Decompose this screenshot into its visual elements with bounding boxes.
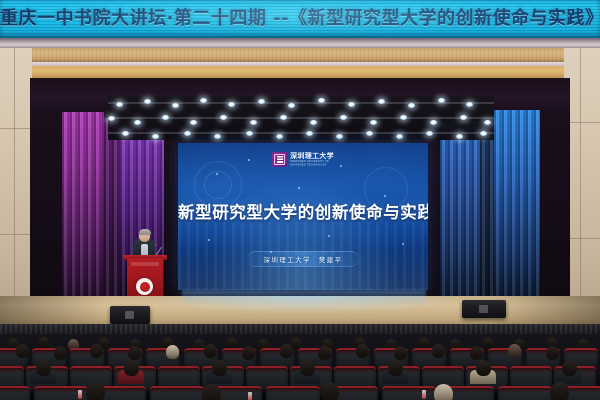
university-logo: 深圳理工大学 SHENZHEN UNIVERSITY OF ADVANCED T… — [272, 152, 334, 167]
stage-light-icon — [162, 115, 169, 120]
curtain-purple-left-mid — [104, 118, 120, 310]
university-crest-icon — [272, 152, 287, 167]
audience-head — [550, 382, 569, 400]
audience-head — [54, 346, 67, 360]
stage-light-icon — [466, 102, 473, 107]
university-name-en-line2: ADVANCED TECHNOLOGY — [290, 164, 334, 167]
audience-head — [470, 346, 483, 360]
slide-dot — [216, 173, 218, 175]
slide-dot — [248, 159, 250, 161]
stage-light-icon — [430, 120, 437, 125]
audience-head — [320, 382, 339, 400]
stage-light-icon — [108, 116, 115, 121]
audience-head — [124, 360, 139, 376]
audience-head — [432, 344, 445, 358]
university-name-en: SHENZHEN UNIVERSITY OF ADVANCED TECHNOLO… — [290, 161, 334, 167]
stage-light-icon — [438, 98, 445, 103]
slide-dot — [340, 165, 342, 167]
stage-light-icon — [200, 98, 207, 103]
stage-light-icon — [288, 103, 295, 108]
audience-seat — [498, 386, 552, 400]
university-logo-text: 深圳理工大学 SHENZHEN UNIVERSITY OF ADVANCED T… — [290, 153, 334, 167]
audience-head — [394, 346, 407, 360]
stage-light-icon — [122, 131, 129, 136]
stage-light-icon — [228, 102, 235, 107]
audience-head — [356, 344, 369, 358]
stage-light-icon — [484, 120, 491, 125]
stage-monitor-speaker-left — [110, 306, 150, 324]
stage-light-icon — [396, 134, 403, 139]
stage-light-icon — [152, 134, 159, 139]
lighting-truss — [108, 96, 494, 140]
audience-head — [128, 346, 141, 360]
led-banner: 重庆一中书院大讲坛·第二十四期 --《新型研究型大学的创新使命与实践》 — [0, 0, 600, 38]
stage-light-icon — [116, 102, 123, 107]
ceiling-band — [0, 38, 600, 48]
stage-light-icon — [172, 103, 179, 108]
podium-emblem-icon — [136, 278, 153, 295]
slide-dot — [384, 195, 386, 197]
audience-head — [508, 344, 521, 358]
stage-floor-glow — [150, 296, 460, 314]
stage-light-icon — [340, 115, 347, 120]
wall-seam — [0, 128, 32, 129]
decorative-circle-icon — [204, 171, 232, 199]
presenter-hair — [139, 229, 151, 235]
stage-light-icon — [400, 115, 407, 120]
stage-light-icon — [214, 134, 221, 139]
audience-seat — [0, 386, 30, 400]
stage-light-icon — [426, 131, 433, 136]
proscenium-upper-trim — [0, 48, 600, 62]
wall-seam — [580, 48, 581, 323]
curtain-purple-left-outer — [62, 112, 104, 310]
curtain-blue-right-mid — [480, 116, 494, 310]
stage-light-icon — [310, 120, 317, 125]
slide-dot — [298, 187, 300, 189]
lecture-hall-photo: 重庆一中书院大讲坛·第二十四期 --《新型研究型大学的创新使命与实践》 — [0, 0, 600, 400]
stage-light-icon — [184, 131, 191, 136]
audience-head — [202, 384, 221, 400]
audience-head — [318, 346, 331, 360]
audience-head — [90, 344, 103, 358]
audience-head — [434, 384, 453, 400]
audience-seat — [150, 386, 204, 400]
podium-nameplate — [131, 262, 159, 266]
stage-light-icon — [408, 103, 415, 108]
stage-light-icon — [370, 120, 377, 125]
audience-head — [16, 344, 29, 358]
led-banner-text: 重庆一中书院大讲坛·第二十四期 --《新型研究型大学的创新使命与实践》 — [0, 6, 600, 32]
stage-light-icon — [280, 115, 287, 120]
curtain-blue-right-outer — [494, 110, 540, 310]
proscenium-lower-trim — [0, 66, 600, 78]
audience-head — [242, 346, 255, 360]
audience-head — [476, 360, 491, 376]
audience-head — [300, 360, 315, 376]
stage-light-icon — [456, 134, 463, 139]
wall-seam — [0, 234, 32, 235]
audience-head — [86, 382, 105, 400]
slide-title: 新型研究型大学的创新使命与实践 — [178, 199, 428, 223]
projection-screen: 深圳理工大学 SHENZHEN UNIVERSITY OF ADVANCED T… — [178, 143, 428, 290]
stage-light-icon — [348, 102, 355, 107]
audience-seat — [266, 386, 320, 400]
stage-light-icon — [250, 120, 257, 125]
hall-wall-left — [0, 48, 32, 323]
audience-head — [212, 360, 227, 376]
stage-light-icon — [220, 115, 227, 120]
stage-light-icon — [258, 99, 265, 104]
truss-bar — [108, 132, 494, 134]
audience-head — [36, 360, 51, 376]
audience-head — [166, 345, 179, 359]
university-name-cn: 深圳理工大学 — [290, 153, 334, 160]
stage-light-icon — [378, 99, 385, 104]
audience-head — [562, 360, 577, 376]
stage-light-icon — [134, 120, 141, 125]
slide-dot — [208, 239, 210, 241]
audience-head — [388, 360, 403, 376]
water-bottle — [422, 390, 426, 399]
audience-area — [0, 334, 600, 400]
stage-light-icon — [246, 131, 253, 136]
stage-light-icon — [318, 98, 325, 103]
stage-light-icon — [336, 134, 343, 139]
water-bottle — [78, 390, 82, 399]
audience-head — [546, 346, 559, 360]
truss-bar — [108, 102, 494, 104]
audience-seat — [382, 386, 436, 400]
stage-monitor-speaker-right — [462, 300, 506, 318]
slide-presenter-tag: 深圳理工大学 樊建平 — [248, 251, 359, 267]
stage-light-icon — [190, 120, 197, 125]
audience-head — [204, 344, 217, 358]
slide-dot — [328, 235, 330, 237]
stage-light-icon — [276, 134, 283, 139]
water-bottle — [248, 392, 252, 400]
stage-light-icon — [306, 131, 313, 136]
stage-light-icon — [144, 99, 151, 104]
audience-head — [280, 344, 293, 358]
curtain-blue-right-inner — [440, 122, 480, 310]
stage-light-icon — [366, 131, 373, 136]
slide-dot — [402, 243, 404, 245]
stage-light-icon — [480, 131, 487, 136]
stage-light-icon — [460, 115, 467, 120]
wall-seam — [14, 48, 15, 323]
